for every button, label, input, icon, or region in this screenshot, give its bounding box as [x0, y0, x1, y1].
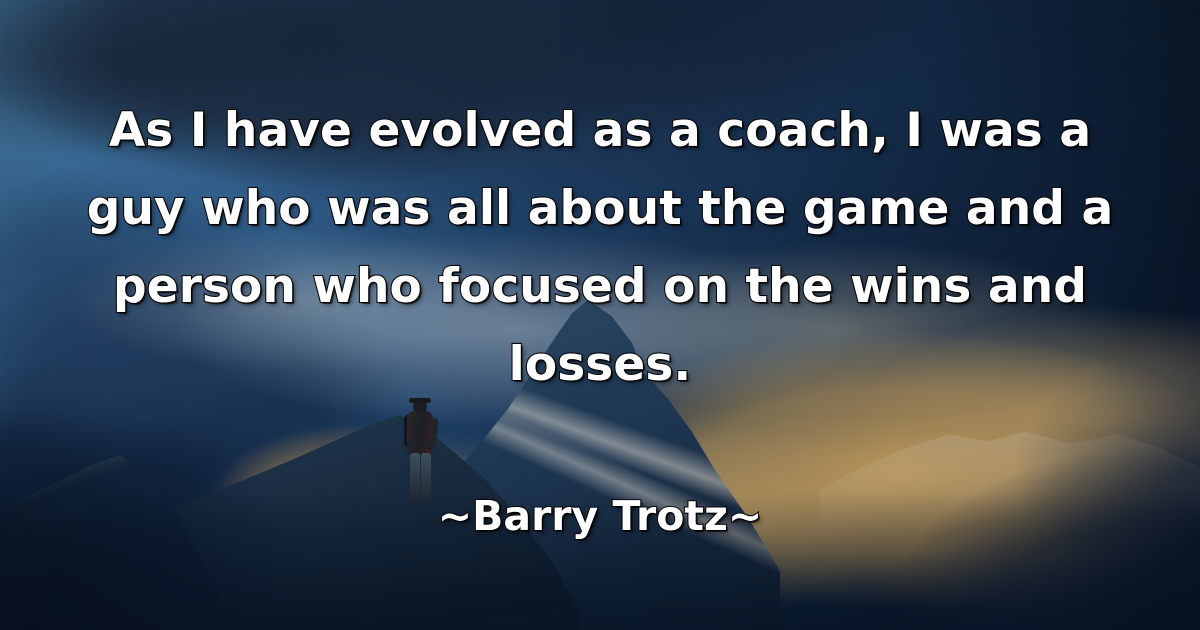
quote-card: As I have evolved as a coach, I was a gu… [0, 0, 1200, 630]
quote-overlay: As I have evolved as a coach, I was a gu… [0, 0, 1200, 630]
quote-attribution: ~Barry Trotz~ [0, 496, 1200, 537]
quote-body-text: As I have evolved as a coach, I was a gu… [0, 92, 1200, 404]
